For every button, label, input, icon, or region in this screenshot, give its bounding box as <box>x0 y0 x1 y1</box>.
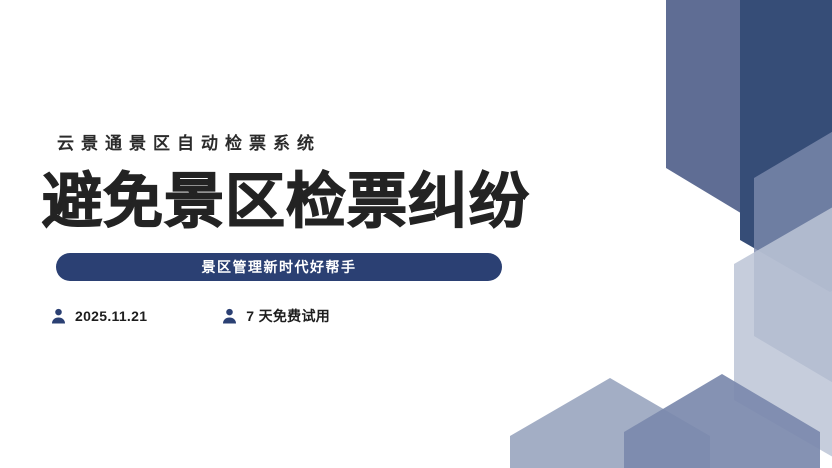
meta-label-trial: 7 天免费试用 <box>246 306 330 326</box>
meta-row: 2025.11.21 7 天免费试用 <box>50 306 330 326</box>
hexagon-mid-blue-top <box>666 0 832 218</box>
hexagon-dark-navy-top-right <box>740 0 832 292</box>
eyebrow-subtitle: 云景通景区自动检票系统 <box>57 134 321 154</box>
tagline-pill: 景区管理新时代好帮手 <box>56 253 502 281</box>
slide-content: 云景通景区自动检票系统 避免景区检票纠纷 景区管理新时代好帮手 2025.11.… <box>0 0 560 468</box>
meta-label-date: 2025.11.21 <box>75 308 147 324</box>
meta-item-date: 2025.11.21 <box>50 307 147 325</box>
page-title: 避免景区检票纠纷 <box>42 166 530 238</box>
hexagon-pale-lavender-band <box>734 196 832 468</box>
hexagon-slate-lower-right <box>754 120 832 394</box>
meta-item-trial: 7 天免费试用 <box>221 306 330 326</box>
hexagon-slate-bottom-center <box>624 374 820 468</box>
presentation-slide: 云景通景区自动检票系统 避免景区检票纠纷 景区管理新时代好帮手 2025.11.… <box>0 0 832 468</box>
tagline-label: 景区管理新时代好帮手 <box>202 257 357 277</box>
person-icon <box>50 307 67 325</box>
person-icon <box>221 307 238 325</box>
